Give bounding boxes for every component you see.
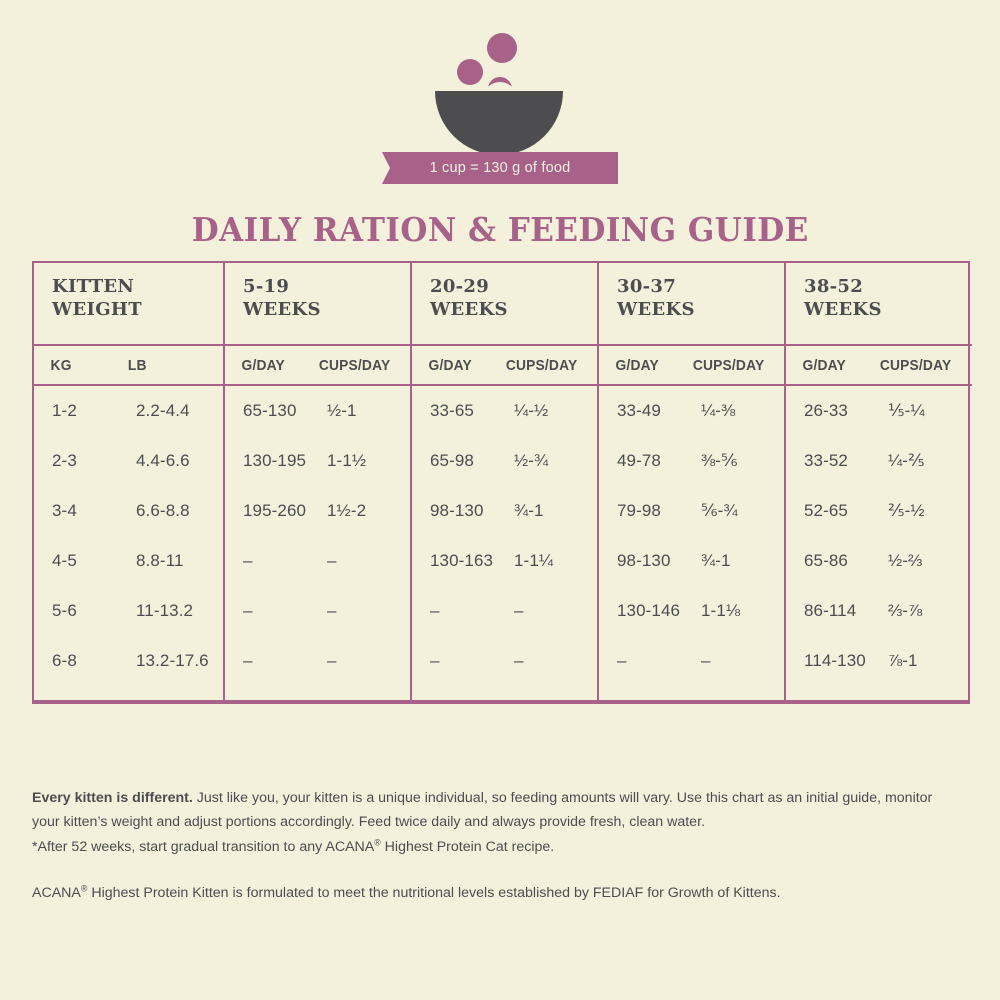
group-header-30-37-weeks: 30-37WEEKS xyxy=(598,263,785,345)
cell-value-30-37-primary: 79-98 xyxy=(617,501,701,521)
cell-value-5-19-secondary: 1-1½ xyxy=(327,451,366,471)
cell-weight: 5-611-13.2 xyxy=(34,586,224,636)
cup-conversion-ribbon: 1 cup = 130 g of food xyxy=(382,152,618,184)
cell-value-30-37-primary: 49-78 xyxy=(617,451,701,471)
cell-value-weight-secondary: 11-13.2 xyxy=(136,601,193,621)
cell-weight: 1-22.2-4.4 xyxy=(34,385,224,436)
feeding-guide-table: KITTENWEIGHT 5-19WEEKS 20-29WEEKS 30-37W… xyxy=(32,261,970,704)
cell-20-29: 33-65¼-½ xyxy=(411,385,598,436)
footer-notes: Every kitten is different. Just like you… xyxy=(32,786,952,906)
cell-weight: 4-58.8-11 xyxy=(34,536,224,586)
cell-value-30-37-primary: 98-130 xyxy=(617,551,701,571)
footer-compliance-note: ACANA® Highest Protein Kitten is formula… xyxy=(32,881,952,905)
cell-value-5-19-primary: – xyxy=(243,601,327,621)
sub-header-5-19: G/DAY CUPS/DAY xyxy=(224,345,411,385)
cell-value-30-37-primary: – xyxy=(617,651,701,671)
cell-value-38-52-primary: 114-130 xyxy=(804,651,888,671)
table-row: 1-22.2-4.465-130½-133-65¼-½33-49¼-⅜26-33… xyxy=(34,385,972,436)
cell-value-5-19-primary: – xyxy=(243,651,327,671)
cell-30-37: 33-49¼-⅜ xyxy=(598,385,785,436)
cell-value-5-19-primary: – xyxy=(243,551,327,571)
cell-value-weight-secondary: 13.2-17.6 xyxy=(136,651,209,671)
cell-value-30-37-secondary: ¼-⅜ xyxy=(701,401,735,421)
footer-asterisk-pre: *After 52 weeks, start gradual transitio… xyxy=(32,839,374,855)
cell-value-20-29-secondary: ½-¾ xyxy=(514,451,548,471)
sub-header-gday-30-37: G/DAY xyxy=(616,357,693,374)
cell-value-30-37-primary: 130-146 xyxy=(617,601,701,621)
cell-30-37: 130-1461-1⅛ xyxy=(598,586,785,636)
cell-value-weight-primary: 5-6 xyxy=(52,601,136,621)
cell-30-37: –– xyxy=(598,636,785,700)
cell-30-37: 79-98⅚-¾ xyxy=(598,486,785,536)
footer-main-paragraph: Every kitten is different. Just like you… xyxy=(32,786,952,859)
cell-value-20-29-primary: 98-130 xyxy=(430,501,514,521)
cell-value-30-37-secondary: ⅚-¾ xyxy=(701,501,738,521)
sub-header-cups-30-37: CUPS/DAY xyxy=(693,357,765,374)
cell-5-19: 130-1951-1½ xyxy=(224,436,411,486)
cell-value-20-29-primary: – xyxy=(430,601,514,621)
sub-header-lb: LB xyxy=(128,357,147,374)
cell-20-29: –– xyxy=(411,636,598,700)
sub-header-kg: KG xyxy=(51,357,128,374)
cell-20-29: 98-130¾-1 xyxy=(411,486,598,536)
cell-5-19: –– xyxy=(224,536,411,586)
cell-value-20-29-secondary: – xyxy=(514,651,524,671)
cell-value-5-19-secondary: – xyxy=(327,651,337,671)
cup-conversion-label: 1 cup = 130 g of food xyxy=(382,152,618,184)
footer-asterisk-post: Highest Protein Cat recipe. xyxy=(381,839,555,855)
cell-value-20-29-secondary: ¼-½ xyxy=(514,401,548,421)
cell-value-38-52-primary: 86-114 xyxy=(804,601,888,621)
cell-38-52: 114-130⅞-1 xyxy=(785,636,972,700)
cell-value-38-52-secondary: ⅖-½ xyxy=(888,501,925,521)
table-row: 5-611-13.2––––130-1461-1⅛86-114⅔-⅞ xyxy=(34,586,972,636)
cell-value-5-19-secondary: ½-1 xyxy=(327,401,357,421)
sub-header-gday-20-29: G/DAY xyxy=(429,357,506,374)
cell-value-weight-secondary: 8.8-11 xyxy=(136,551,184,571)
cell-value-20-29-primary: – xyxy=(430,651,514,671)
compliance-post: Highest Protein Kitten is formulated to … xyxy=(87,885,780,901)
cell-value-20-29-primary: 130-163 xyxy=(430,551,514,571)
cell-value-30-37-secondary: 1-1⅛ xyxy=(701,601,740,621)
sub-header-gday-5-19: G/DAY xyxy=(242,357,319,374)
cell-value-20-29-primary: 33-65 xyxy=(430,401,514,421)
ration-table: KITTENWEIGHT 5-19WEEKS 20-29WEEKS 30-37W… xyxy=(34,263,972,700)
group-header-kitten-weight: KITTENWEIGHT xyxy=(34,263,224,345)
cell-value-38-52-secondary: ⅔-⅞ xyxy=(888,601,922,621)
cell-value-5-19-primary: 195-260 xyxy=(243,501,327,521)
food-bowl-icon xyxy=(425,26,575,136)
cell-20-29: 130-1631-1¼ xyxy=(411,536,598,586)
cell-value-30-37-secondary: ¾-1 xyxy=(701,551,731,571)
sub-header-gday-38-52: G/DAY xyxy=(803,357,880,374)
cell-weight: 3-46.6-8.8 xyxy=(34,486,224,536)
table-row: 3-46.6-8.8195-2601½-298-130¾-179-98⅚-¾52… xyxy=(34,486,972,536)
cell-value-38-52-secondary: ⅞-1 xyxy=(888,651,918,671)
cell-38-52: 65-86½-⅔ xyxy=(785,536,972,586)
cell-value-weight-secondary: 2.2-4.4 xyxy=(136,401,190,421)
cell-value-5-19-primary: 65-130 xyxy=(243,401,327,421)
cell-20-29: 65-98½-¾ xyxy=(411,436,598,486)
cell-value-38-52-secondary: ¼-⅖ xyxy=(888,451,925,471)
sub-header-weight: KG LB xyxy=(34,345,224,385)
sub-header-cups-38-52: CUPS/DAY xyxy=(880,357,952,374)
cell-value-38-52-primary: 65-86 xyxy=(804,551,888,571)
cell-value-5-19-primary: 130-195 xyxy=(243,451,327,471)
cell-value-30-37-secondary: – xyxy=(701,651,711,671)
sub-header-row: KG LB G/DAY CUPS/DAY G/DAY CUPS/DAY xyxy=(34,345,972,385)
header-icon-area: 1 cup = 130 g of food DAILY RATION & FEE… xyxy=(0,0,1000,249)
group-header-5-19-weeks: 5-19WEEKS xyxy=(224,263,411,345)
cell-value-20-29-secondary: – xyxy=(514,601,524,621)
table-row: 6-813.2-17.6––––––114-130⅞-1 xyxy=(34,636,972,700)
cell-20-29: –– xyxy=(411,586,598,636)
cell-38-52: 26-33⅕-¼ xyxy=(785,385,972,436)
cell-value-20-29-secondary: ¾-1 xyxy=(514,501,544,521)
cell-5-19: 65-130½-1 xyxy=(224,385,411,436)
cell-value-30-37-secondary: ⅜-⅚ xyxy=(701,451,738,471)
cell-value-weight-secondary: 6.6-8.8 xyxy=(136,501,190,521)
cell-5-19: –– xyxy=(224,586,411,636)
cell-value-38-52-secondary: ½-⅔ xyxy=(888,551,922,571)
group-header-row: KITTENWEIGHT 5-19WEEKS 20-29WEEKS 30-37W… xyxy=(34,263,972,345)
sub-header-30-37: G/DAY CUPS/DAY xyxy=(598,345,785,385)
kibble-piece-icon xyxy=(457,59,483,85)
cell-value-weight-primary: 6-8 xyxy=(52,651,136,671)
cell-38-52: 86-114⅔-⅞ xyxy=(785,586,972,636)
group-header-38-52-weeks: 38-52WEEKS xyxy=(785,263,972,345)
cell-value-weight-secondary: 4.4-6.6 xyxy=(136,451,190,471)
cell-5-19: –– xyxy=(224,636,411,700)
table-row: 2-34.4-6.6130-1951-1½65-98½-¾49-78⅜-⅚33-… xyxy=(34,436,972,486)
cell-value-20-29-secondary: 1-1¼ xyxy=(514,551,553,571)
cell-value-weight-primary: 1-2 xyxy=(52,401,136,421)
cell-value-5-19-secondary: 1½-2 xyxy=(327,501,366,521)
cell-weight: 2-34.4-6.6 xyxy=(34,436,224,486)
cell-value-38-52-primary: 52-65 xyxy=(804,501,888,521)
cell-value-38-52-primary: 33-52 xyxy=(804,451,888,471)
cell-38-52: 33-52¼-⅖ xyxy=(785,436,972,486)
cell-30-37: 98-130¾-1 xyxy=(598,536,785,586)
footer-lead: Every kitten is different. xyxy=(32,790,193,806)
table-row: 4-58.8-11––130-1631-1¼98-130¾-165-86½-⅔ xyxy=(34,536,972,586)
cell-30-37: 49-78⅜-⅚ xyxy=(598,436,785,486)
cell-5-19: 195-2601½-2 xyxy=(224,486,411,536)
kibble-piece-icon xyxy=(487,33,517,63)
cell-weight: 6-813.2-17.6 xyxy=(34,636,224,700)
compliance-pre: ACANA xyxy=(32,885,81,901)
cell-value-38-52-secondary: ⅕-¼ xyxy=(888,401,925,421)
cell-value-20-29-primary: 65-98 xyxy=(430,451,514,471)
group-header-20-29-weeks: 20-29WEEKS xyxy=(411,263,598,345)
cell-value-weight-primary: 3-4 xyxy=(52,501,136,521)
sub-header-38-52: G/DAY CUPS/DAY xyxy=(785,345,972,385)
cell-value-weight-primary: 2-3 xyxy=(52,451,136,471)
cell-value-5-19-secondary: – xyxy=(327,601,337,621)
cell-value-weight-primary: 4-5 xyxy=(52,551,136,571)
sub-header-cups-20-29: CUPS/DAY xyxy=(506,357,578,374)
sub-header-cups-5-19: CUPS/DAY xyxy=(319,357,391,374)
cell-value-5-19-secondary: – xyxy=(327,551,337,571)
cell-value-38-52-primary: 26-33 xyxy=(804,401,888,421)
bowl-shape xyxy=(435,91,563,155)
sub-header-20-29: G/DAY CUPS/DAY xyxy=(411,345,598,385)
cell-value-30-37-primary: 33-49 xyxy=(617,401,701,421)
cell-38-52: 52-65⅖-½ xyxy=(785,486,972,536)
page-title: DAILY RATION & FEEDING GUIDE xyxy=(191,210,808,249)
